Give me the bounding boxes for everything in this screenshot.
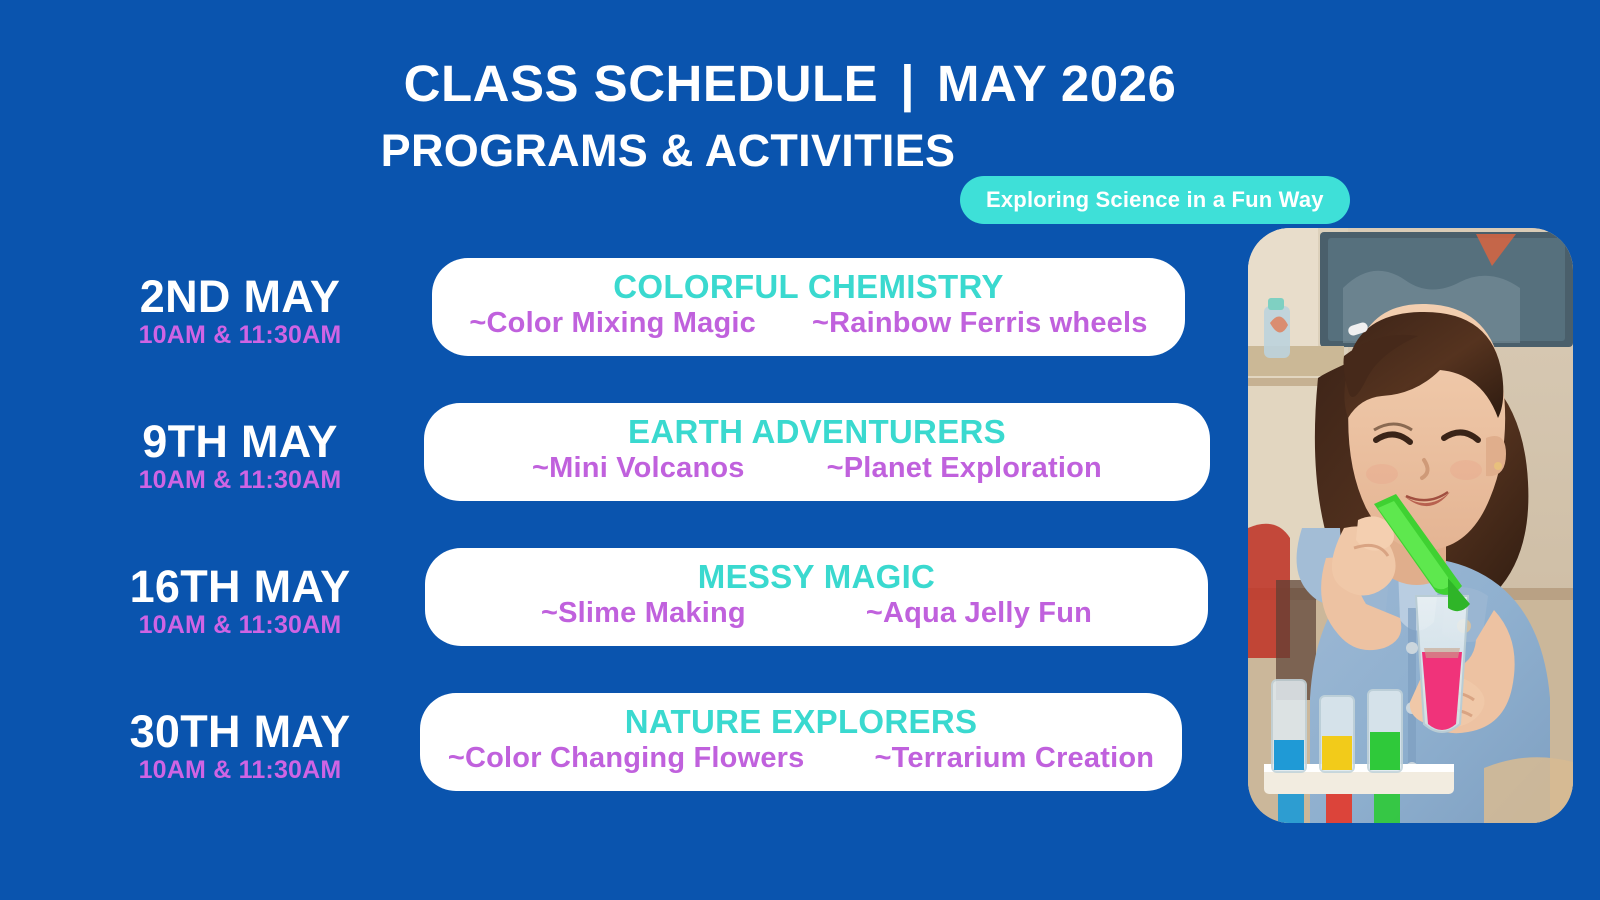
- program-card[interactable]: EARTH ADVENTURERS ~Mini Volcanos ~Planet…: [424, 403, 1210, 501]
- activity-item: ~Slime Making: [541, 597, 746, 630]
- date-column: 9TH MAY 10AM & 11:30AM: [85, 419, 395, 493]
- poster-header: CLASS SCHEDULE|MAY 2026 PROGRAMS & ACTIV…: [0, 44, 1600, 204]
- class-schedule-poster: CLASS SCHEDULE|MAY 2026 PROGRAMS & ACTIV…: [0, 0, 1600, 900]
- activity-list: ~Slime Making ~Aqua Jelly Fun: [541, 597, 1092, 630]
- activity-list: ~Color Changing Flowers ~Terrarium Creat…: [448, 742, 1154, 775]
- activity-item: ~Aqua Jelly Fun: [866, 597, 1092, 630]
- row-date: 16TH MAY: [85, 564, 395, 610]
- program-title: NATURE EXPLORERS: [625, 704, 978, 740]
- row-date: 9TH MAY: [85, 419, 395, 465]
- header-title-line: CLASS SCHEDULE|MAY 2026: [300, 58, 1280, 109]
- activity-item: ~Color Mixing Magic: [469, 307, 756, 340]
- science-child-photo: [1248, 228, 1573, 823]
- row-time: 10AM & 11:30AM: [85, 467, 395, 493]
- activity-item: ~Rainbow Ferris wheels: [812, 307, 1148, 340]
- header-month: MAY 2026: [937, 55, 1176, 112]
- tagline-badge: Exploring Science in a Fun Way: [960, 176, 1350, 224]
- tagline-text: Exploring Science in a Fun Way: [986, 187, 1324, 213]
- row-time: 10AM & 11:30AM: [85, 757, 395, 783]
- schedule-row[interactable]: 16TH MAY 10AM & 11:30AM MESSY MAGIC ~Sli…: [0, 548, 1230, 693]
- row-date: 30TH MAY: [85, 709, 395, 755]
- program-title: EARTH ADVENTURERS: [628, 414, 1006, 450]
- program-card[interactable]: NATURE EXPLORERS ~Color Changing Flowers…: [420, 693, 1182, 791]
- title-separator: |: [878, 58, 937, 109]
- program-card[interactable]: MESSY MAGIC ~Slime Making ~Aqua Jelly Fu…: [425, 548, 1208, 646]
- schedule-row[interactable]: 9TH MAY 10AM & 11:30AM EARTH ADVENTURERS…: [0, 403, 1230, 548]
- schedule-list: 2ND MAY 10AM & 11:30AM COLORFUL CHEMISTR…: [0, 258, 1230, 838]
- row-time: 10AM & 11:30AM: [85, 322, 395, 348]
- activity-item: ~Color Changing Flowers: [448, 742, 805, 775]
- page-title: CLASS SCHEDULE: [404, 55, 879, 112]
- activity-item: ~Planet Exploration: [827, 452, 1102, 485]
- program-title: COLORFUL CHEMISTRY: [613, 269, 1003, 305]
- schedule-row[interactable]: 30TH MAY 10AM & 11:30AM NATURE EXPLORERS…: [0, 693, 1230, 838]
- program-title: MESSY MAGIC: [698, 559, 935, 595]
- program-card[interactable]: COLORFUL CHEMISTRY ~Color Mixing Magic ~…: [432, 258, 1185, 356]
- schedule-row[interactable]: 2ND MAY 10AM & 11:30AM COLORFUL CHEMISTR…: [0, 258, 1230, 403]
- date-column: 30TH MAY 10AM & 11:30AM: [85, 709, 395, 783]
- date-column: 16TH MAY 10AM & 11:30AM: [85, 564, 395, 638]
- activity-item: ~Mini Volcanos: [532, 452, 745, 485]
- header-subtitle: PROGRAMS & ACTIVITIES: [128, 128, 1208, 173]
- row-time: 10AM & 11:30AM: [85, 612, 395, 638]
- row-date: 2ND MAY: [85, 274, 395, 320]
- activity-list: ~Color Mixing Magic ~Rainbow Ferris whee…: [469, 307, 1147, 340]
- activity-item: ~Terrarium Creation: [875, 742, 1155, 775]
- activity-list: ~Mini Volcanos ~Planet Exploration: [532, 452, 1102, 485]
- date-column: 2ND MAY 10AM & 11:30AM: [85, 274, 395, 348]
